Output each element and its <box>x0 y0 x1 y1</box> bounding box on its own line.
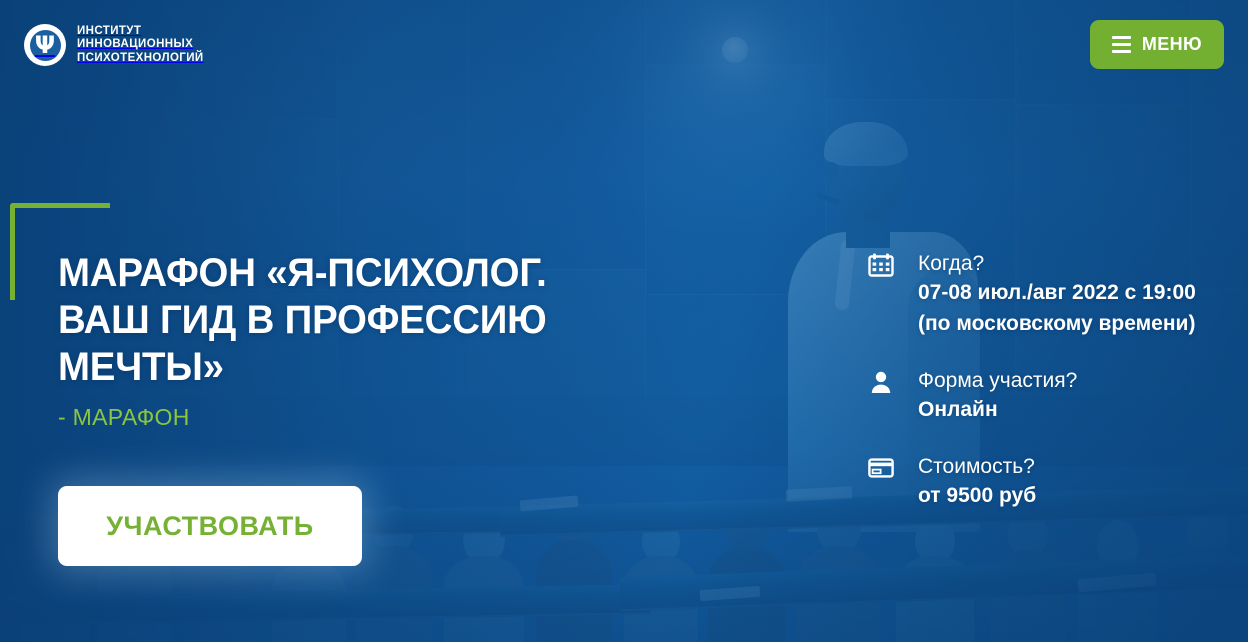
participate-button[interactable]: УЧАСТВОВАТЬ <box>58 486 362 566</box>
psi-glyph: Ψ <box>35 33 55 57</box>
menu-button-label: МЕНЮ <box>1142 34 1202 55</box>
hamburger-icon <box>1112 36 1131 53</box>
info-answer: Онлайн <box>918 394 1198 425</box>
brand-name: ИНСТИТУТ ИННОВАЦИОННЫХ ПСИХОТЕХНОЛОГИЙ <box>77 25 204 66</box>
credit-card-icon <box>868 456 894 480</box>
hero-content: МАРАФОН «Я-ПСИХОЛОГ. ВАШ ГИД В ПРОФЕССИЮ… <box>0 0 860 642</box>
event-info-panel: Когда? 07-08 июл./авг 2022 с 19:00 (по м… <box>868 250 1198 511</box>
info-question: Форма участия? <box>918 367 1198 394</box>
info-answer: от 9500 руб <box>918 480 1198 511</box>
site-header: Ψ ИНСТИТУТ ИННОВАЦИОННЫХ ПСИХОТЕХНОЛОГИЙ… <box>0 0 1248 92</box>
info-question: Стоимость? <box>918 453 1198 480</box>
psi-circle-logo-icon: Ψ <box>24 24 66 66</box>
hero-subtitle: - МАРАФОН <box>58 404 190 431</box>
info-answer: 07-08 июл./авг 2022 с 19:00 (по московск… <box>918 277 1198 339</box>
info-row-format: Форма участия? Онлайн <box>868 367 1198 425</box>
info-row-date: Когда? 07-08 июл./авг 2022 с 19:00 (по м… <box>868 250 1198 339</box>
info-row-price: Стоимость? от 9500 руб <box>868 453 1198 511</box>
user-icon <box>868 370 894 394</box>
hero-banner: Ψ ИНСТИТУТ ИННОВАЦИОННЫХ ПСИХОТЕХНОЛОГИЙ… <box>0 0 1248 642</box>
calendar-icon <box>868 253 894 277</box>
page-title: МАРАФОН «Я-ПСИХОЛОГ. ВАШ ГИД В ПРОФЕССИЮ… <box>58 250 634 391</box>
logo[interactable]: Ψ ИНСТИТУТ ИННОВАЦИОННЫХ ПСИХОТЕХНОЛОГИЙ <box>24 24 204 66</box>
info-question: Когда? <box>918 250 1198 277</box>
menu-button[interactable]: МЕНЮ <box>1090 20 1224 69</box>
